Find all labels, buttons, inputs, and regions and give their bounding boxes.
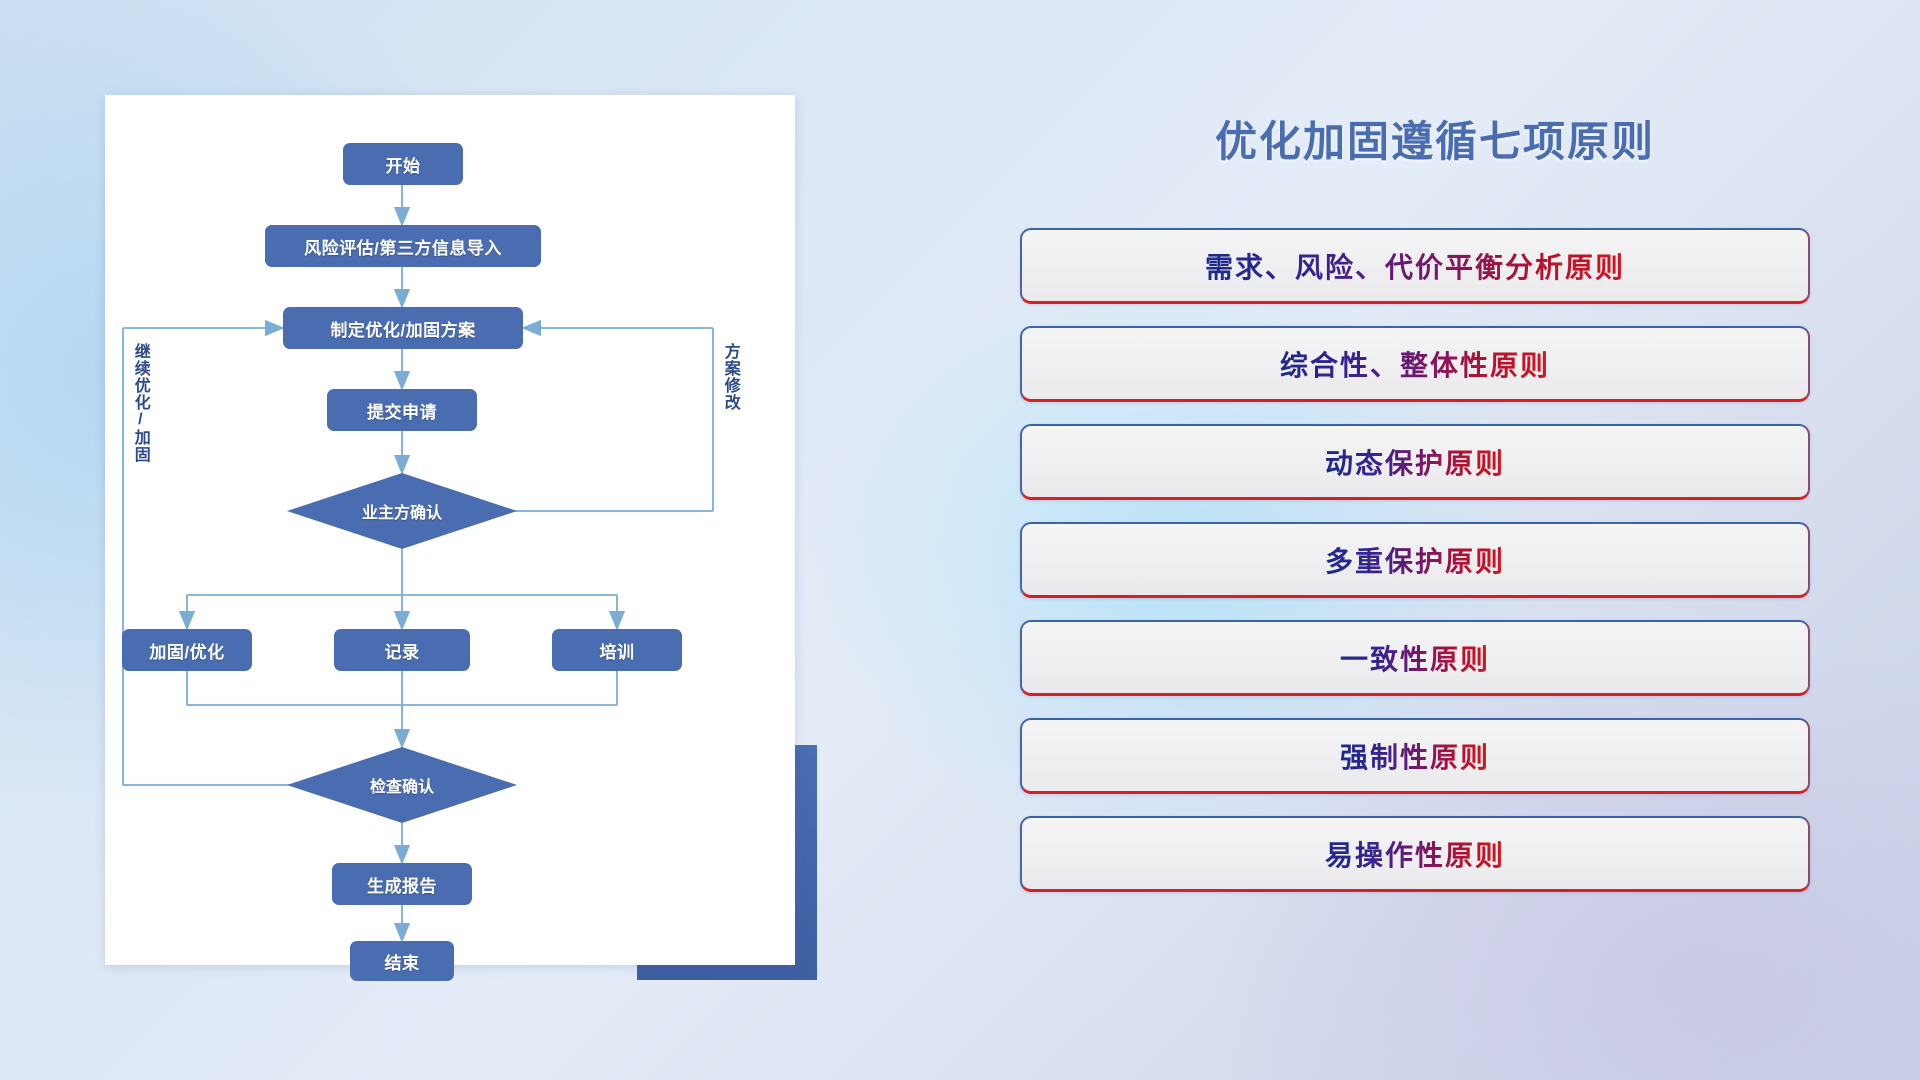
principles-list: 需求、风险、代价平衡分析原则 综合性、整体性原则 动态保护原则 多重保护原则 一… (1020, 228, 1810, 914)
flow-node-reinforce[interactable]: 加固/优化 (122, 629, 252, 671)
principle-item[interactable]: 需求、风险、代价平衡分析原则 (1020, 228, 1810, 304)
flow-node-label: 风险评估/第三方信息导入 (304, 234, 502, 259)
flow-node-end[interactable]: 结束 (350, 941, 454, 981)
principle-label: 需求、风险、代价平衡分析原则 (1205, 246, 1625, 286)
flow-node-training[interactable]: 培训 (552, 629, 682, 671)
flow-node-label: 生成报告 (367, 872, 437, 897)
flow-node-label: 业主方确认 (362, 499, 442, 523)
flow-edge-label-right-loop: 方案修改 (721, 343, 738, 411)
principle-item[interactable]: 综合性、整体性原则 (1020, 326, 1810, 402)
principle-item[interactable]: 多重保护原则 (1020, 522, 1810, 598)
principles-title: 优化加固遵循七项原则 (1020, 108, 1850, 169)
principles-region: 优化加固遵循七项原则 需求、风险、代价平衡分析原则 综合性、整体性原则 动态保护… (1020, 0, 1920, 1080)
flow-node-label: 制定优化/加固方案 (330, 316, 475, 341)
flow-node-record[interactable]: 记录 (334, 629, 470, 671)
flow-node-risk-assessment[interactable]: 风险评估/第三方信息导入 (265, 225, 541, 267)
principle-label: 多重保护原则 (1325, 540, 1505, 580)
principle-label: 综合性、整体性原则 (1280, 344, 1550, 384)
flow-node-plan[interactable]: 制定优化/加固方案 (283, 307, 523, 349)
principle-item[interactable]: 易操作性原则 (1020, 816, 1810, 892)
flow-node-label: 检查确认 (370, 773, 434, 797)
principle-item[interactable]: 一致性原则 (1020, 620, 1810, 696)
flow-node-label: 提交申请 (367, 398, 437, 423)
flow-node-generate-report[interactable]: 生成报告 (332, 863, 472, 905)
principle-label: 易操作性原则 (1325, 834, 1505, 874)
flow-node-label: 培训 (600, 638, 635, 663)
flow-node-label: 记录 (385, 638, 420, 663)
principle-label: 动态保护原则 (1325, 442, 1505, 482)
flow-node-submit-application[interactable]: 提交申请 (327, 389, 477, 431)
flow-node-label: 结束 (385, 949, 420, 974)
flowchart-region: 开始 风险评估/第三方信息导入 制定优化/加固方案 提交申请 业主方确认 加固/… (0, 0, 830, 1080)
flow-edge-label-left-loop: 继续优化/加固 (131, 343, 148, 463)
flowchart-card: 开始 风险评估/第三方信息导入 制定优化/加固方案 提交申请 业主方确认 加固/… (105, 95, 795, 965)
flow-node-label: 加固/优化 (149, 638, 224, 663)
principle-label: 强制性原则 (1340, 736, 1490, 776)
flow-node-start[interactable]: 开始 (343, 143, 463, 185)
principle-item[interactable]: 强制性原则 (1020, 718, 1810, 794)
principle-label: 一致性原则 (1340, 638, 1490, 678)
principle-item[interactable]: 动态保护原则 (1020, 424, 1810, 500)
flow-node-label: 开始 (386, 152, 421, 177)
